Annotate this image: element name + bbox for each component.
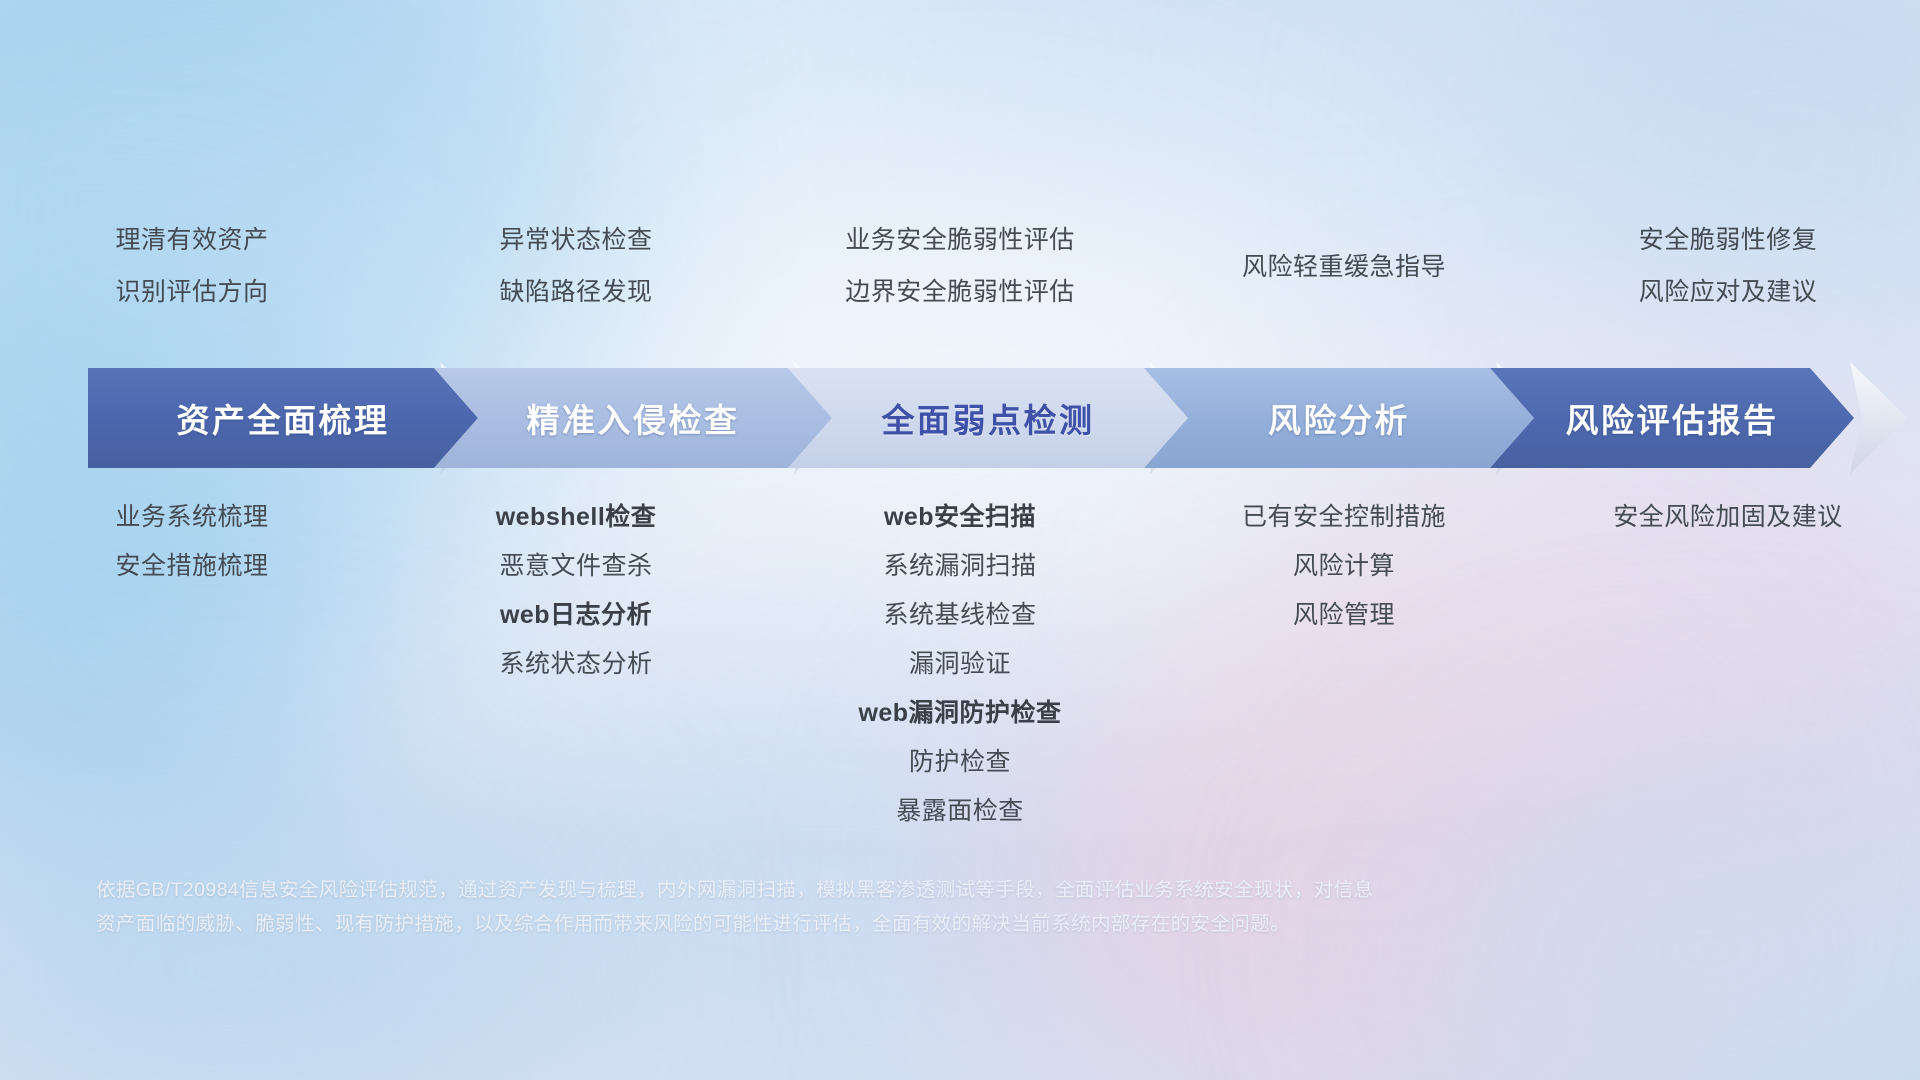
upper-outcome-item: 边界安全脆弱性评估 <box>845 280 1075 305</box>
stage-arrow-label: 精准入侵检查 <box>527 394 740 442</box>
activity-item: 恶意文件查杀 <box>499 554 652 579</box>
lower-activities-stage-5: 安全风险加固及建议 <box>1536 505 1920 554</box>
upper-outcome-item: 风险轻重缓急指导 <box>1242 255 1446 280</box>
activity-item: webshell检查 <box>496 505 657 530</box>
process-diagram: 理清有效资产 识别评估方向 异常状态检查 缺陷路径发现 业务安全脆弱性评估 边界… <box>0 0 1920 1080</box>
stage-arrow-5[interactable]: 风险评估报告 <box>1490 368 1854 468</box>
stage-arrow-label: 全面弱点检测 <box>882 394 1095 442</box>
lower-activities-stage-3: web安全扫描 系统漏洞扫描 系统基线检查 漏洞验证 web漏洞防护检查 防护检… <box>768 505 1152 848</box>
footer-line-1: 依据GB/T20984信息安全风险评估规范，通过资产发现与梳理，内外网漏洞扫描，… <box>96 873 1606 907</box>
stage-arrow-label: 资产全面梳理 <box>177 394 390 442</box>
upper-outcome-item: 识别评估方向 <box>115 280 268 305</box>
activity-item: web日志分析 <box>500 603 652 628</box>
upper-outcome-item: 异常状态检查 <box>499 228 652 253</box>
stage-arrow-label: 风险评估报告 <box>1566 394 1779 442</box>
upper-outcomes-stage-3: 业务安全脆弱性评估 边界安全脆弱性评估 <box>768 228 1152 332</box>
upper-outcomes-stage-4: 风险轻重缓急指导 <box>1152 228 1536 332</box>
activity-item: 已有安全控制措施 <box>1242 505 1446 530</box>
lower-activities-row: 业务系统梳理 安全措施梳理 webshell检查 恶意文件查杀 web日志分析 … <box>0 505 1920 848</box>
stage-arrow-4[interactable]: 风险分析 <box>1144 368 1534 468</box>
process-arrow-band: 资产全面梳理 精准入侵检查 全面弱点检测 风险分析 风险评估报告 <box>88 368 1854 468</box>
upper-outcome-item: 风险应对及建议 <box>1639 280 1818 305</box>
upper-outcome-item: 业务安全脆弱性评估 <box>845 228 1075 253</box>
activity-item: 系统状态分析 <box>499 652 652 677</box>
activity-item: 安全措施梳理 <box>115 554 268 579</box>
upper-outcome-item: 缺陷路径发现 <box>499 280 652 305</box>
footer-line-2: 资产面临的威胁、脆弱性、现有防护措施，以及综合作用而带来风险的可能性进行评估，全… <box>96 907 1606 941</box>
lower-activities-stage-1: 业务系统梳理 安全措施梳理 <box>0 505 384 603</box>
activity-item: 暴露面检查 <box>896 799 1024 824</box>
activity-item: 风险计算 <box>1293 554 1395 579</box>
upper-outcomes-stage-1: 理清有效资产 识别评估方向 <box>0 228 384 332</box>
stage-arrow-label: 风险分析 <box>1268 394 1410 442</box>
activity-item: 系统漏洞扫描 <box>883 554 1036 579</box>
chevron-divider-icon <box>1850 362 1908 474</box>
upper-outcomes-stage-2: 异常状态检查 缺陷路径发现 <box>384 228 768 332</box>
lower-activities-stage-4: 已有安全控制措施 风险计算 风险管理 <box>1152 505 1536 652</box>
stage-arrow-1[interactable]: 资产全面梳理 <box>88 368 478 468</box>
lower-activities-stage-2: webshell检查 恶意文件查杀 web日志分析 系统状态分析 <box>384 505 768 701</box>
upper-outcome-item: 理清有效资产 <box>115 228 268 253</box>
activity-item: 漏洞验证 <box>909 652 1011 677</box>
activity-item: 防护检查 <box>909 750 1011 775</box>
stage-arrow-2[interactable]: 精准入侵检查 <box>434 368 832 468</box>
activity-item: web漏洞防护检查 <box>858 701 1061 726</box>
activity-item: 系统基线检查 <box>883 603 1036 628</box>
activity-item: web安全扫描 <box>884 505 1036 530</box>
activity-item: 业务系统梳理 <box>115 505 268 530</box>
activity-item: 风险管理 <box>1293 603 1395 628</box>
stage-arrow-3[interactable]: 全面弱点检测 <box>788 368 1188 468</box>
upper-outcome-item: 安全脆弱性修复 <box>1639 228 1818 253</box>
upper-outcomes-stage-5: 安全脆弱性修复 风险应对及建议 <box>1536 228 1920 332</box>
footer-description: 依据GB/T20984信息安全风险评估规范，通过资产发现与梳理，内外网漏洞扫描，… <box>96 873 1606 941</box>
upper-outcomes-row: 理清有效资产 识别评估方向 异常状态检查 缺陷路径发现 业务安全脆弱性评估 边界… <box>0 228 1920 332</box>
activity-item: 安全风险加固及建议 <box>1613 505 1843 530</box>
